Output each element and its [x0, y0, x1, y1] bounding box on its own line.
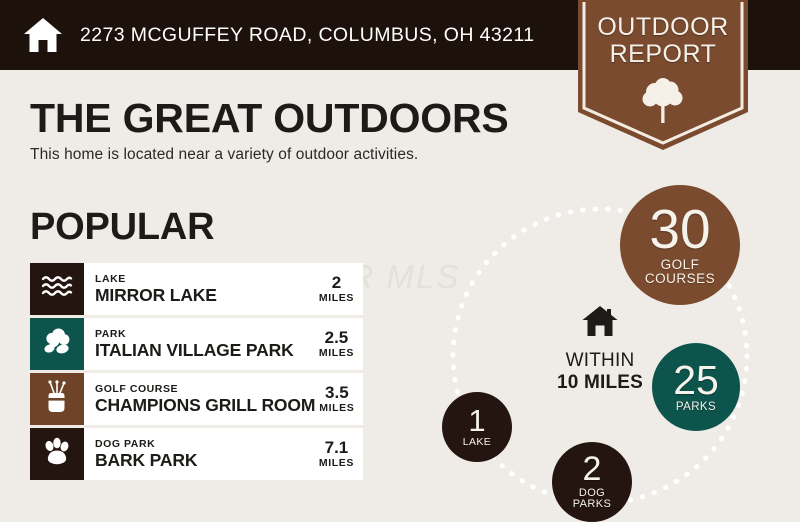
list-item-distance: 2.5 MILES [315, 318, 363, 370]
trees-icon [39, 327, 75, 362]
page-subtitle: This home is located near a variety of o… [30, 146, 418, 164]
distance-value: 2 [332, 274, 341, 292]
dial-center-line2: 10 MILES [557, 372, 643, 393]
list-item-name: BARK PARK [95, 451, 315, 471]
paw-print-icon [41, 436, 73, 473]
popular-heading: POPULAR [30, 208, 214, 246]
list-item-icon-tile [30, 373, 84, 425]
stat-label-line1: PARKS [676, 401, 716, 413]
stat-bubble-golf-courses[interactable]: 30 GOLF COURSES [620, 185, 740, 305]
distance-value: 3.5 [325, 384, 349, 402]
list-item[interactable]: PARK ITALIAN VILLAGE PARK 2.5 MILES [30, 318, 363, 370]
stat-label-line2: COURSES [645, 272, 715, 286]
list-item-category: DOG PARK [95, 438, 315, 451]
list-item-name: ITALIAN VILLAGE PARK [95, 341, 315, 361]
within-10-miles-dial: 30 GOLF COURSES 25 PARKS 1 LAKE 2 DOG PA… [400, 170, 800, 521]
golf-bag-icon [43, 380, 71, 419]
stat-count: 25 [673, 360, 719, 400]
badge-text: OUTDOOR REPORT [578, 14, 748, 67]
stat-count: 30 [649, 203, 710, 257]
list-item-text: GOLF COURSE CHAMPIONS GRILL ROOM [84, 373, 315, 425]
distance-value: 2.5 [325, 329, 349, 347]
stat-bubble-lake[interactable]: 1 LAKE [442, 392, 512, 462]
list-item-name: MIRROR LAKE [95, 286, 315, 306]
list-item[interactable]: LAKE MIRROR LAKE 2 MILES [30, 263, 363, 315]
list-item-text: DOG PARK BARK PARK [84, 428, 315, 480]
stat-count: 2 [583, 453, 602, 486]
stat-label-line1: LAKE [463, 437, 491, 448]
property-address: 2273 MCGUFFEY ROAD, COLUMBUS, OH 43211 [80, 24, 534, 47]
page-title: THE GREAT OUTDOORS [30, 98, 509, 139]
badge-line1: OUTDOOR [578, 14, 748, 41]
distance-unit: MILES [319, 292, 354, 304]
list-item-name: CHAMPIONS GRILL ROOM [95, 396, 315, 416]
list-item-distance: 3.5 MILES [315, 373, 363, 425]
list-item-icon-tile [30, 263, 84, 315]
dial-center: WITHIN 10 MILES [520, 304, 680, 394]
list-item-distance: 2 MILES [315, 263, 363, 315]
list-item-category: PARK [95, 328, 315, 341]
list-item-icon-tile [30, 318, 84, 370]
badge-line2: REPORT [578, 41, 748, 68]
dial-center-line1: WITHIN [566, 350, 635, 371]
stat-count: 1 [468, 406, 485, 436]
list-item[interactable]: GOLF COURSE CHAMPIONS GRILL ROOM 3.5 MIL… [30, 373, 363, 425]
home-icon [520, 304, 680, 343]
distance-unit: MILES [319, 347, 354, 359]
distance-unit: MILES [319, 457, 354, 469]
popular-list: LAKE MIRROR LAKE 2 MILES [30, 263, 363, 483]
distance-unit: MILES [319, 402, 354, 414]
list-item-icon-tile [30, 428, 84, 480]
outdoor-report-badge: OUTDOOR REPORT [578, 0, 748, 150]
list-item-category: GOLF COURSE [95, 383, 315, 396]
list-item[interactable]: DOG PARK BARK PARK 7.1 MILES [30, 428, 363, 480]
list-item-category: LAKE [95, 273, 315, 286]
list-item-text: LAKE MIRROR LAKE [84, 263, 315, 315]
waves-icon [40, 274, 74, 305]
distance-value: 7.1 [325, 439, 349, 457]
home-icon [22, 15, 64, 55]
stat-label-line1: GOLF [661, 258, 700, 272]
stat-label-line2: PARKS [573, 499, 611, 511]
tree-icon [641, 78, 685, 124]
stat-bubble-dog-parks[interactable]: 2 DOG PARKS [552, 442, 632, 522]
list-item-distance: 7.1 MILES [315, 428, 363, 480]
list-item-text: PARK ITALIAN VILLAGE PARK [84, 318, 315, 370]
